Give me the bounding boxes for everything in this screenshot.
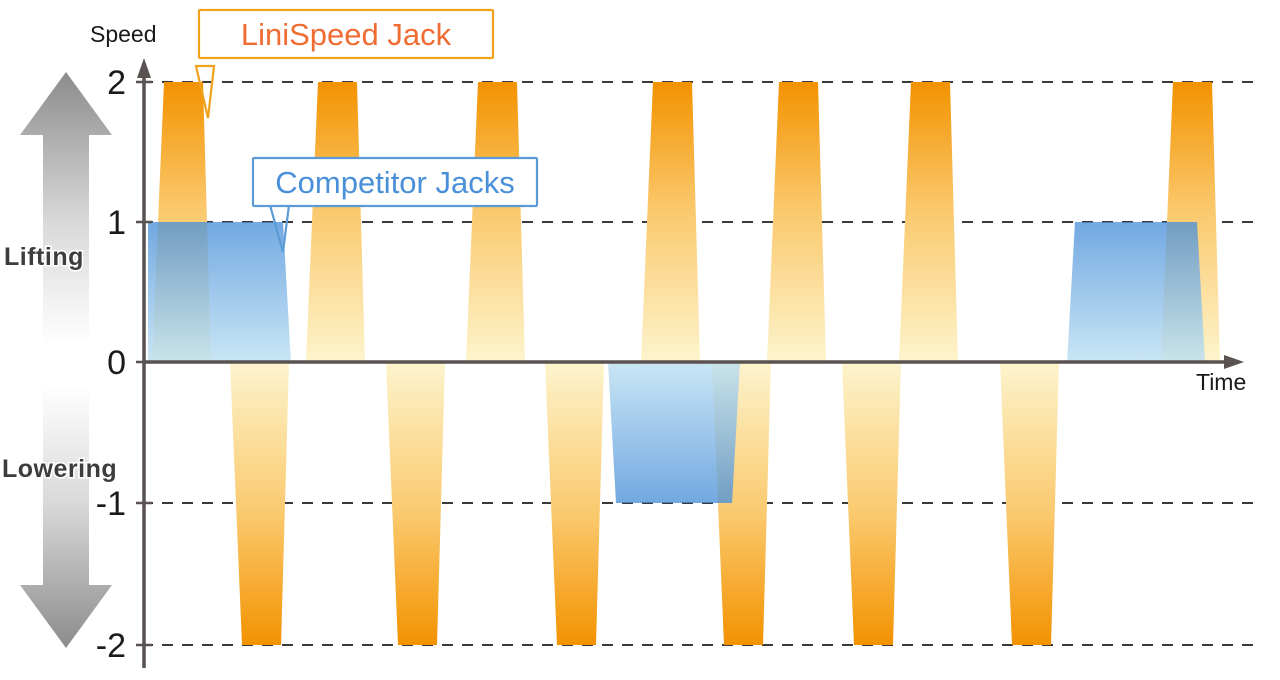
lifting-arrow-icon bbox=[20, 72, 112, 345]
blue-pulse-up-1 bbox=[148, 222, 291, 362]
x-axis-label: Time bbox=[1196, 369, 1246, 395]
y-tick-1: 1 bbox=[107, 204, 126, 242]
x-axis-arrowhead bbox=[1224, 355, 1244, 369]
orange-pulse-down-3 bbox=[545, 362, 604, 645]
callout-blue-label: Competitor Jacks bbox=[275, 165, 514, 200]
callout-orange-label: LiniSpeed Jack bbox=[241, 17, 452, 52]
blue-pulse-up-2 bbox=[1067, 222, 1205, 362]
orange-pulse-up-4 bbox=[641, 82, 700, 362]
speed-vs-time-chart: 2 1 0 -1 -2 Speed Time Lifting Lowering … bbox=[0, 0, 1280, 680]
y-axis-label: Speed bbox=[90, 21, 157, 47]
orange-pulse-up-3 bbox=[466, 82, 525, 362]
y-axis-arrowhead bbox=[137, 58, 151, 78]
orange-pulse-down-2 bbox=[386, 362, 445, 645]
y-tick-minus-1: -1 bbox=[96, 485, 126, 523]
y-tick-minus-2: -2 bbox=[96, 627, 126, 665]
blue-pulse-down-1 bbox=[608, 362, 740, 503]
lifting-label: Lifting bbox=[4, 243, 84, 271]
orange-pulse-up-6 bbox=[899, 82, 958, 362]
chart-root: 2 1 0 -1 -2 Speed Time Lifting Lowering … bbox=[0, 0, 1280, 680]
orange-pulse-up-2 bbox=[306, 82, 365, 362]
y-tick-0: 0 bbox=[107, 344, 126, 382]
y-axis-tick-labels: 2 1 0 -1 -2 bbox=[96, 64, 126, 665]
lowering-label: Lowering bbox=[2, 455, 117, 483]
orange-pulse-up-5 bbox=[767, 82, 826, 362]
orange-pulse-down-1 bbox=[230, 362, 289, 645]
orange-pulse-down-5 bbox=[842, 362, 901, 645]
orange-pulse-down-6 bbox=[1000, 362, 1059, 645]
y-tick-2: 2 bbox=[107, 64, 126, 102]
